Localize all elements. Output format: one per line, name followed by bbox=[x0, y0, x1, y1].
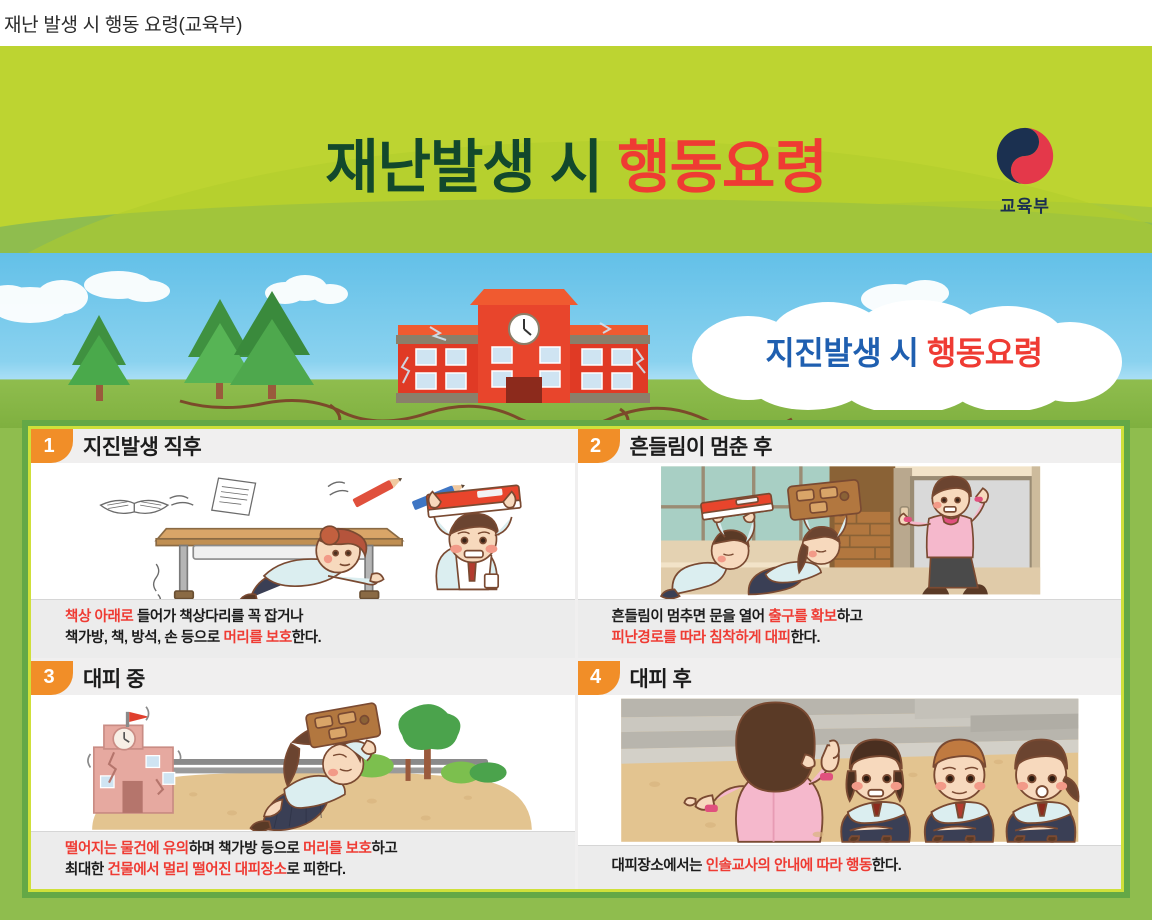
panel-4-art-svg bbox=[578, 695, 1122, 846]
steps-icon bbox=[621, 698, 1078, 763]
boy-with-book-icon bbox=[426, 485, 521, 589]
caption-highlight: 인솔교사의 안내에 따라 행동 bbox=[706, 858, 872, 874]
caption-line: 피난경로를 따라 침착하게 대피한다. bbox=[612, 628, 1108, 649]
panel-3-caption: 떨어지는 물건에 유의하며 책가방 등으로 머리를 보호하고최대한 건물에서 멀… bbox=[31, 831, 575, 889]
panel-2-number-badge: 2 bbox=[578, 429, 620, 463]
panel-4-title: 대피 후 bbox=[630, 663, 692, 693]
caption-highlight: 건물에서 멀리 떨어진 대피장소 bbox=[107, 862, 286, 878]
caption-highlight: 머리를 보호 bbox=[223, 630, 291, 646]
caption-text: 대피장소에서는 bbox=[612, 858, 706, 874]
student-evacuating-illustration bbox=[31, 695, 575, 831]
panel-3-art-svg bbox=[31, 695, 575, 831]
panel-1-art-svg bbox=[31, 463, 575, 599]
panel-2-art-svg bbox=[578, 463, 1122, 599]
caption-line: 책가방, 책, 방석, 손 등으로 머리를 보호한다. bbox=[65, 628, 561, 649]
panel-4-header: 4 대피 후 bbox=[578, 661, 1122, 695]
caption-text: 들어가 책상다리를 꼭 잡거나 bbox=[133, 609, 303, 625]
caption-line: 책상 아래로 들어가 책상다리를 꼭 잡거나 bbox=[65, 607, 561, 628]
main-title-dark: 재난발생 시 bbox=[325, 135, 602, 200]
panel-1-number-badge: 1 bbox=[31, 429, 73, 463]
main-title-red: 행동요령 bbox=[617, 135, 826, 200]
panel-3-number-badge: 3 bbox=[31, 661, 73, 695]
caption-text: 로 피한다. bbox=[287, 862, 346, 878]
caption-text: 한다. bbox=[292, 630, 322, 646]
speech-bubble-text: 지진발생 시 행동요령 bbox=[678, 298, 1130, 410]
taegeuk-emblem-icon bbox=[993, 124, 1057, 188]
panel-2-title: 흔들림이 멈춘 후 bbox=[630, 431, 772, 461]
panel-1[interactable]: 1 지진발생 직후 bbox=[31, 429, 575, 658]
caption-highlight: 책상 아래로 bbox=[65, 609, 133, 625]
bubble-text-red: 행동요령 bbox=[927, 328, 1043, 374]
poster-root: 재난발생 시 행동요령 교육부 bbox=[0, 46, 1152, 920]
caption-text: 하고 bbox=[837, 609, 863, 625]
panel-4-caption: 대피장소에서는 인솔교사의 안내에 따라 행동한다. bbox=[578, 845, 1122, 889]
student-a-icon bbox=[841, 739, 910, 841]
desk-icon bbox=[156, 529, 402, 599]
panel-1-header: 1 지진발생 직후 bbox=[31, 429, 575, 463]
damaged-building-icon bbox=[88, 706, 181, 812]
caption-highlight: 출구를 확보 bbox=[768, 609, 836, 625]
speech-bubble: 지진발생 시 행동요령 bbox=[678, 298, 1130, 410]
panel-3[interactable]: 3 대피 중 bbox=[31, 661, 575, 890]
caption-highlight: 떨어지는 물건에 유의 bbox=[65, 841, 189, 857]
teacher-instructing-students-illustration bbox=[578, 695, 1122, 846]
caption-text: 흔들림이 멈추면 문을 열어 bbox=[612, 609, 769, 625]
student-under-desk-illustration bbox=[31, 463, 575, 599]
caption-text: 최대한 bbox=[65, 862, 107, 878]
ministry-emblem-label: 교육부 bbox=[970, 192, 1080, 217]
pine-tree-icons bbox=[68, 291, 314, 401]
panel-3-title: 대피 중 bbox=[83, 663, 145, 693]
caption-highlight: 피난경로를 따라 침착하게 대피 bbox=[612, 630, 791, 646]
panel-4-number-badge: 4 bbox=[578, 661, 620, 695]
panel-grid: 1 지진발생 직후 bbox=[28, 426, 1124, 892]
panel-3-header: 3 대피 중 bbox=[31, 661, 575, 695]
flying-book-icon bbox=[101, 500, 168, 513]
caption-line: 대피장소에서는 인솔교사의 안내에 따라 행동한다. bbox=[612, 856, 902, 877]
panel-2[interactable]: 2 흔들림이 멈춘 후 bbox=[578, 429, 1122, 658]
caption-text: 책가방, 책, 방석, 손 등으로 bbox=[65, 630, 223, 646]
ministry-emblem: 교육부 bbox=[970, 124, 1080, 217]
header-swoosh-secondary bbox=[712, 201, 1152, 261]
page-title: 재난 발생 시 행동 요령(교육부) bbox=[0, 0, 1152, 46]
caption-highlight: 머리를 보호 bbox=[303, 841, 371, 857]
caption-text: 하고 bbox=[371, 841, 397, 857]
bubble-text-blue: 지진발생 시 bbox=[765, 328, 918, 374]
caption-text: 한다. bbox=[872, 858, 902, 874]
flying-paper-icon bbox=[212, 478, 256, 515]
panel-grid-frame: 1 지진발생 직후 bbox=[22, 420, 1130, 898]
caption-text: 한다. bbox=[791, 630, 821, 646]
panel-2-header: 2 흔들림이 멈춘 후 bbox=[578, 429, 1122, 463]
panel-4[interactable]: 4 대피 후 bbox=[578, 661, 1122, 890]
caption-line: 최대한 건물에서 멀리 떨어진 대피장소로 피한다. bbox=[65, 860, 561, 881]
school-building-icon bbox=[396, 289, 650, 403]
panel-1-caption: 책상 아래로 들어가 책상다리를 꼭 잡거나책가방, 책, 방석, 손 등으로 … bbox=[31, 599, 575, 657]
caption-line: 흔들림이 멈추면 문을 열어 출구를 확보하고 bbox=[612, 607, 1108, 628]
teacher-opening-door-illustration bbox=[578, 463, 1122, 599]
caption-text: 하며 책가방 등으로 bbox=[189, 841, 303, 857]
caption-line: 떨어지는 물건에 유의하며 책가방 등으로 머리를 보호하고 bbox=[65, 839, 561, 860]
panel-1-title: 지진발생 직후 bbox=[83, 431, 201, 461]
panel-2-caption: 흔들림이 멈추면 문을 열어 출구를 확보하고피난경로를 따라 침착하게 대피한… bbox=[578, 599, 1122, 657]
